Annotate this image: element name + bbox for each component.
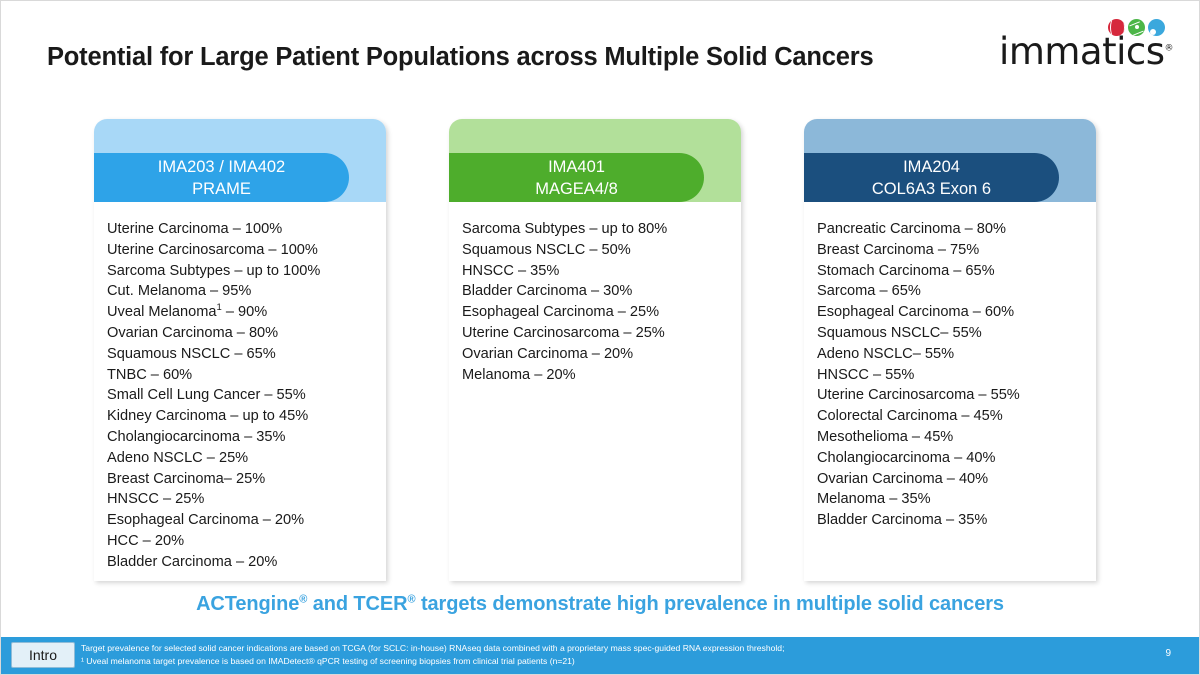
indication-row: Squamous NSCLC – 50% [462,240,735,261]
indication-row: Cholangiocarcinoma – 35% [107,427,380,448]
tagline-registered-2: ® [407,593,415,605]
page-title: Potential for Large Patient Populations … [47,43,873,72]
indication-row: Bladder Carcinoma – 20% [107,552,380,573]
footnote-marker: 1 [217,302,222,313]
footnotes: Target prevalence for selected solid can… [81,642,784,667]
card-title-pill: IMA204 COL6A3 Exon 6 [804,153,1059,202]
indication-row: HNSCC – 35% [462,261,735,282]
indication-row: Ovarian Carcinoma – 80% [107,323,380,344]
indication-row: Uterine Carcinosarcoma – 100% [107,240,380,261]
indication-row: Breast Carcinoma – 75% [817,240,1090,261]
indication-row: Cholangiocarcinoma – 40% [817,448,1090,469]
indication-row: TNBC – 60% [107,365,380,386]
indication-row: Mesothelioma – 45% [817,427,1090,448]
indication-row: Uterine Carcinosarcoma – 25% [462,323,735,344]
program-card-ima204: IMA204 COL6A3 Exon 6 Pancreatic Carcinom… [804,119,1096,581]
target-name: PRAME [94,178,349,200]
indication-row: Colorectal Carcinoma – 45% [817,406,1090,427]
summary-tagline: ACTengine® and TCER® targets demonstrate… [1,593,1199,616]
indication-row: HNSCC – 25% [107,489,380,510]
indication-row: Sarcoma Subtypes – up to 100% [107,261,380,282]
card-title-pill: IMA401 MAGEA4/8 [449,153,704,202]
slide-footer: Intro Target prevalence for selected sol… [1,637,1199,674]
tagline-post: targets demonstrate high prevalence in m… [416,593,1004,615]
indication-row: Cut. Melanoma – 95% [107,281,380,302]
indication-list-ima401: Sarcoma Subtypes – up to 80%Squamous NSC… [462,219,735,385]
footnote-line-1: Target prevalence for selected solid can… [81,642,784,655]
indication-row: Small Cell Lung Cancer – 55% [107,385,380,406]
indication-row: Uveal Melanoma1 – 90% [107,302,380,323]
indication-row: Kidney Carcinoma – up to 45% [107,406,380,427]
slide-canvas: Potential for Large Patient Populations … [0,0,1200,675]
indication-list-ima204: Pancreatic Carcinoma – 80%Breast Carcino… [817,219,1090,531]
indication-row: Ovarian Carcinoma – 40% [817,469,1090,490]
indication-row: Bladder Carcinoma – 30% [462,281,735,302]
indication-row: Adeno NSCLC– 55% [817,344,1090,365]
indication-list-ima203: Uterine Carcinoma – 100%Uterine Carcinos… [107,219,380,573]
indication-row: Squamous NSCLC– 55% [817,323,1090,344]
section-badge-intro[interactable]: Intro [11,642,75,668]
indication-row: HCC – 20% [107,531,380,552]
card-title-pill: IMA203 / IMA402 PRAME [94,153,349,202]
program-name: IMA401 [449,156,704,178]
indication-row: Pancreatic Carcinoma – 80% [817,219,1090,240]
indication-row: Esophageal Carcinoma – 20% [107,510,380,531]
tagline-mid: and TCER [307,593,407,615]
target-name: MAGEA4/8 [449,178,704,200]
program-name: IMA203 / IMA402 [94,156,349,178]
indication-row: Melanoma – 35% [817,489,1090,510]
indication-row: Sarcoma Subtypes – up to 80% [462,219,735,240]
indication-row: Adeno NSCLC – 25% [107,448,380,469]
indication-row: Uterine Carcinosarcoma – 55% [817,385,1090,406]
footnote-line-2: ¹ Uveal melanoma target prevalence is ba… [81,655,784,668]
program-card-ima203: IMA203 / IMA402 PRAME Uterine Carcinoma … [94,119,386,581]
indication-row: Breast Carcinoma– 25% [107,469,380,490]
logo-registered-mark: ® [1165,44,1174,54]
indication-row: Squamous NSCLC – 65% [107,344,380,365]
indication-row: Uterine Carcinoma – 100% [107,219,380,240]
indication-row: Melanoma – 20% [462,365,735,386]
indication-row: Bladder Carcinoma – 35% [817,510,1090,531]
indication-row: Esophageal Carcinoma – 25% [462,302,735,323]
indication-row: Esophageal Carcinoma – 60% [817,302,1090,323]
indication-row: Sarcoma – 65% [817,281,1090,302]
immatics-logo: immatics® [1051,19,1173,77]
indication-row: HNSCC – 55% [817,365,1090,386]
logo-wordmark-text: immatics [999,30,1164,73]
program-card-ima401: IMA401 MAGEA4/8 Sarcoma Subtypes – up to… [449,119,741,581]
page-number: 9 [1165,648,1171,659]
target-name: COL6A3 Exon 6 [804,178,1059,200]
logo-wordmark: immatics® [999,33,1173,70]
indication-row: Stomach Carcinoma – 65% [817,261,1090,282]
tagline-pre: ACTengine [196,593,299,615]
indication-row: Ovarian Carcinoma – 20% [462,344,735,365]
program-name: IMA204 [804,156,1059,178]
